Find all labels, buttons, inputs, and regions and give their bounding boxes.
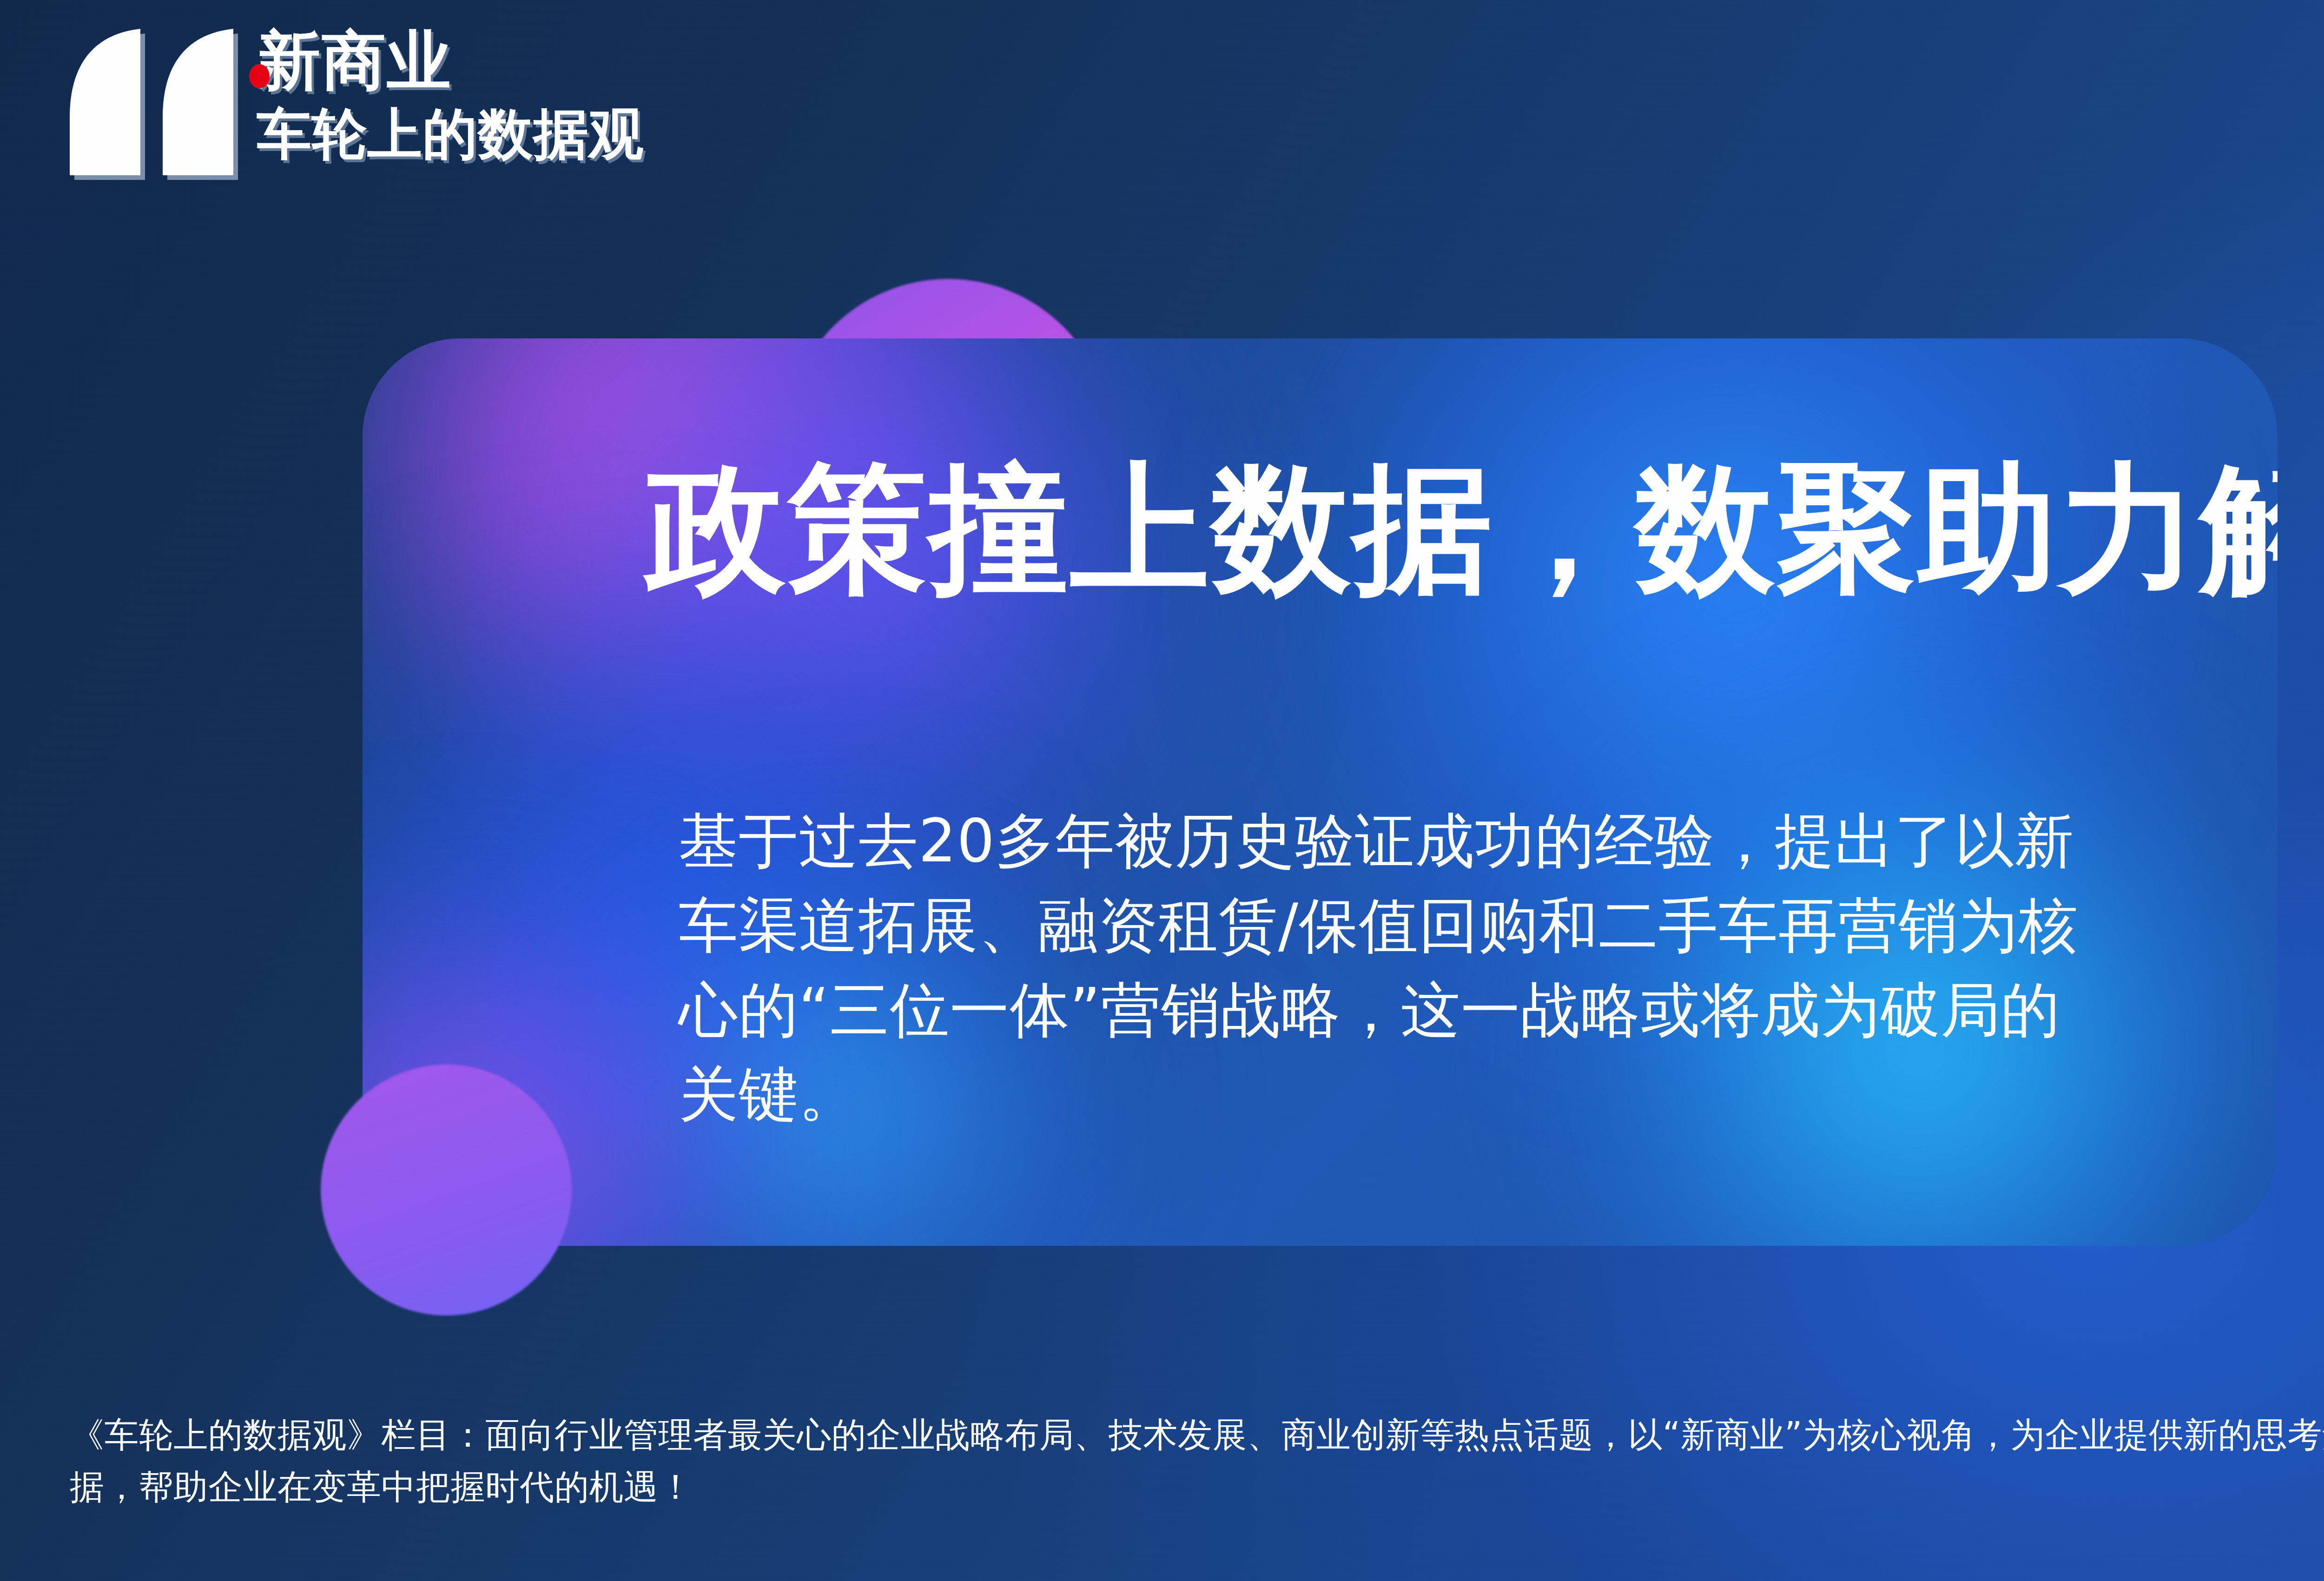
headline: 政策撞上数据，数聚助力解惑	[646, 459, 2226, 599]
quote-open-icon	[70, 29, 242, 182]
card-content: 政策撞上数据，数聚助力解惑 基于过去20多年被历史验证成功的经验，提出了以新车渠…	[363, 338, 2278, 1246]
feature-card: 政策撞上数据，数聚助力解惑 基于过去20多年被历史验证成功的经验，提出了以新车渠…	[363, 338, 2278, 1246]
poster-canvas: 新商业 车轮上的数据观 政策撞上数据，数聚助力解惑 基于过去20多年被历史验证成…	[0, 0, 2324, 1581]
footer-description: 《车轮上的数据观》栏目：面向行业管理者最关心的企业战略布局、技术发展、商业创新等…	[70, 1409, 2324, 1513]
brand-text: 新商业 车轮上的数据观	[257, 27, 644, 165]
brand-subtitle: 车轮上的数据观	[257, 103, 644, 165]
red-dot-accent	[249, 64, 270, 88]
brand-lockup: 新商业 车轮上的数据观	[70, 24, 644, 182]
brand-title: 新商业	[257, 27, 644, 95]
body-copy: 基于过去20多年被历史验证成功的经验，提出了以新车渠道拓展、融资租赁/保值回购和…	[679, 799, 2119, 1137]
brand-title-label: 新商业	[257, 23, 452, 98]
decorative-orb-violet	[321, 1065, 572, 1316]
